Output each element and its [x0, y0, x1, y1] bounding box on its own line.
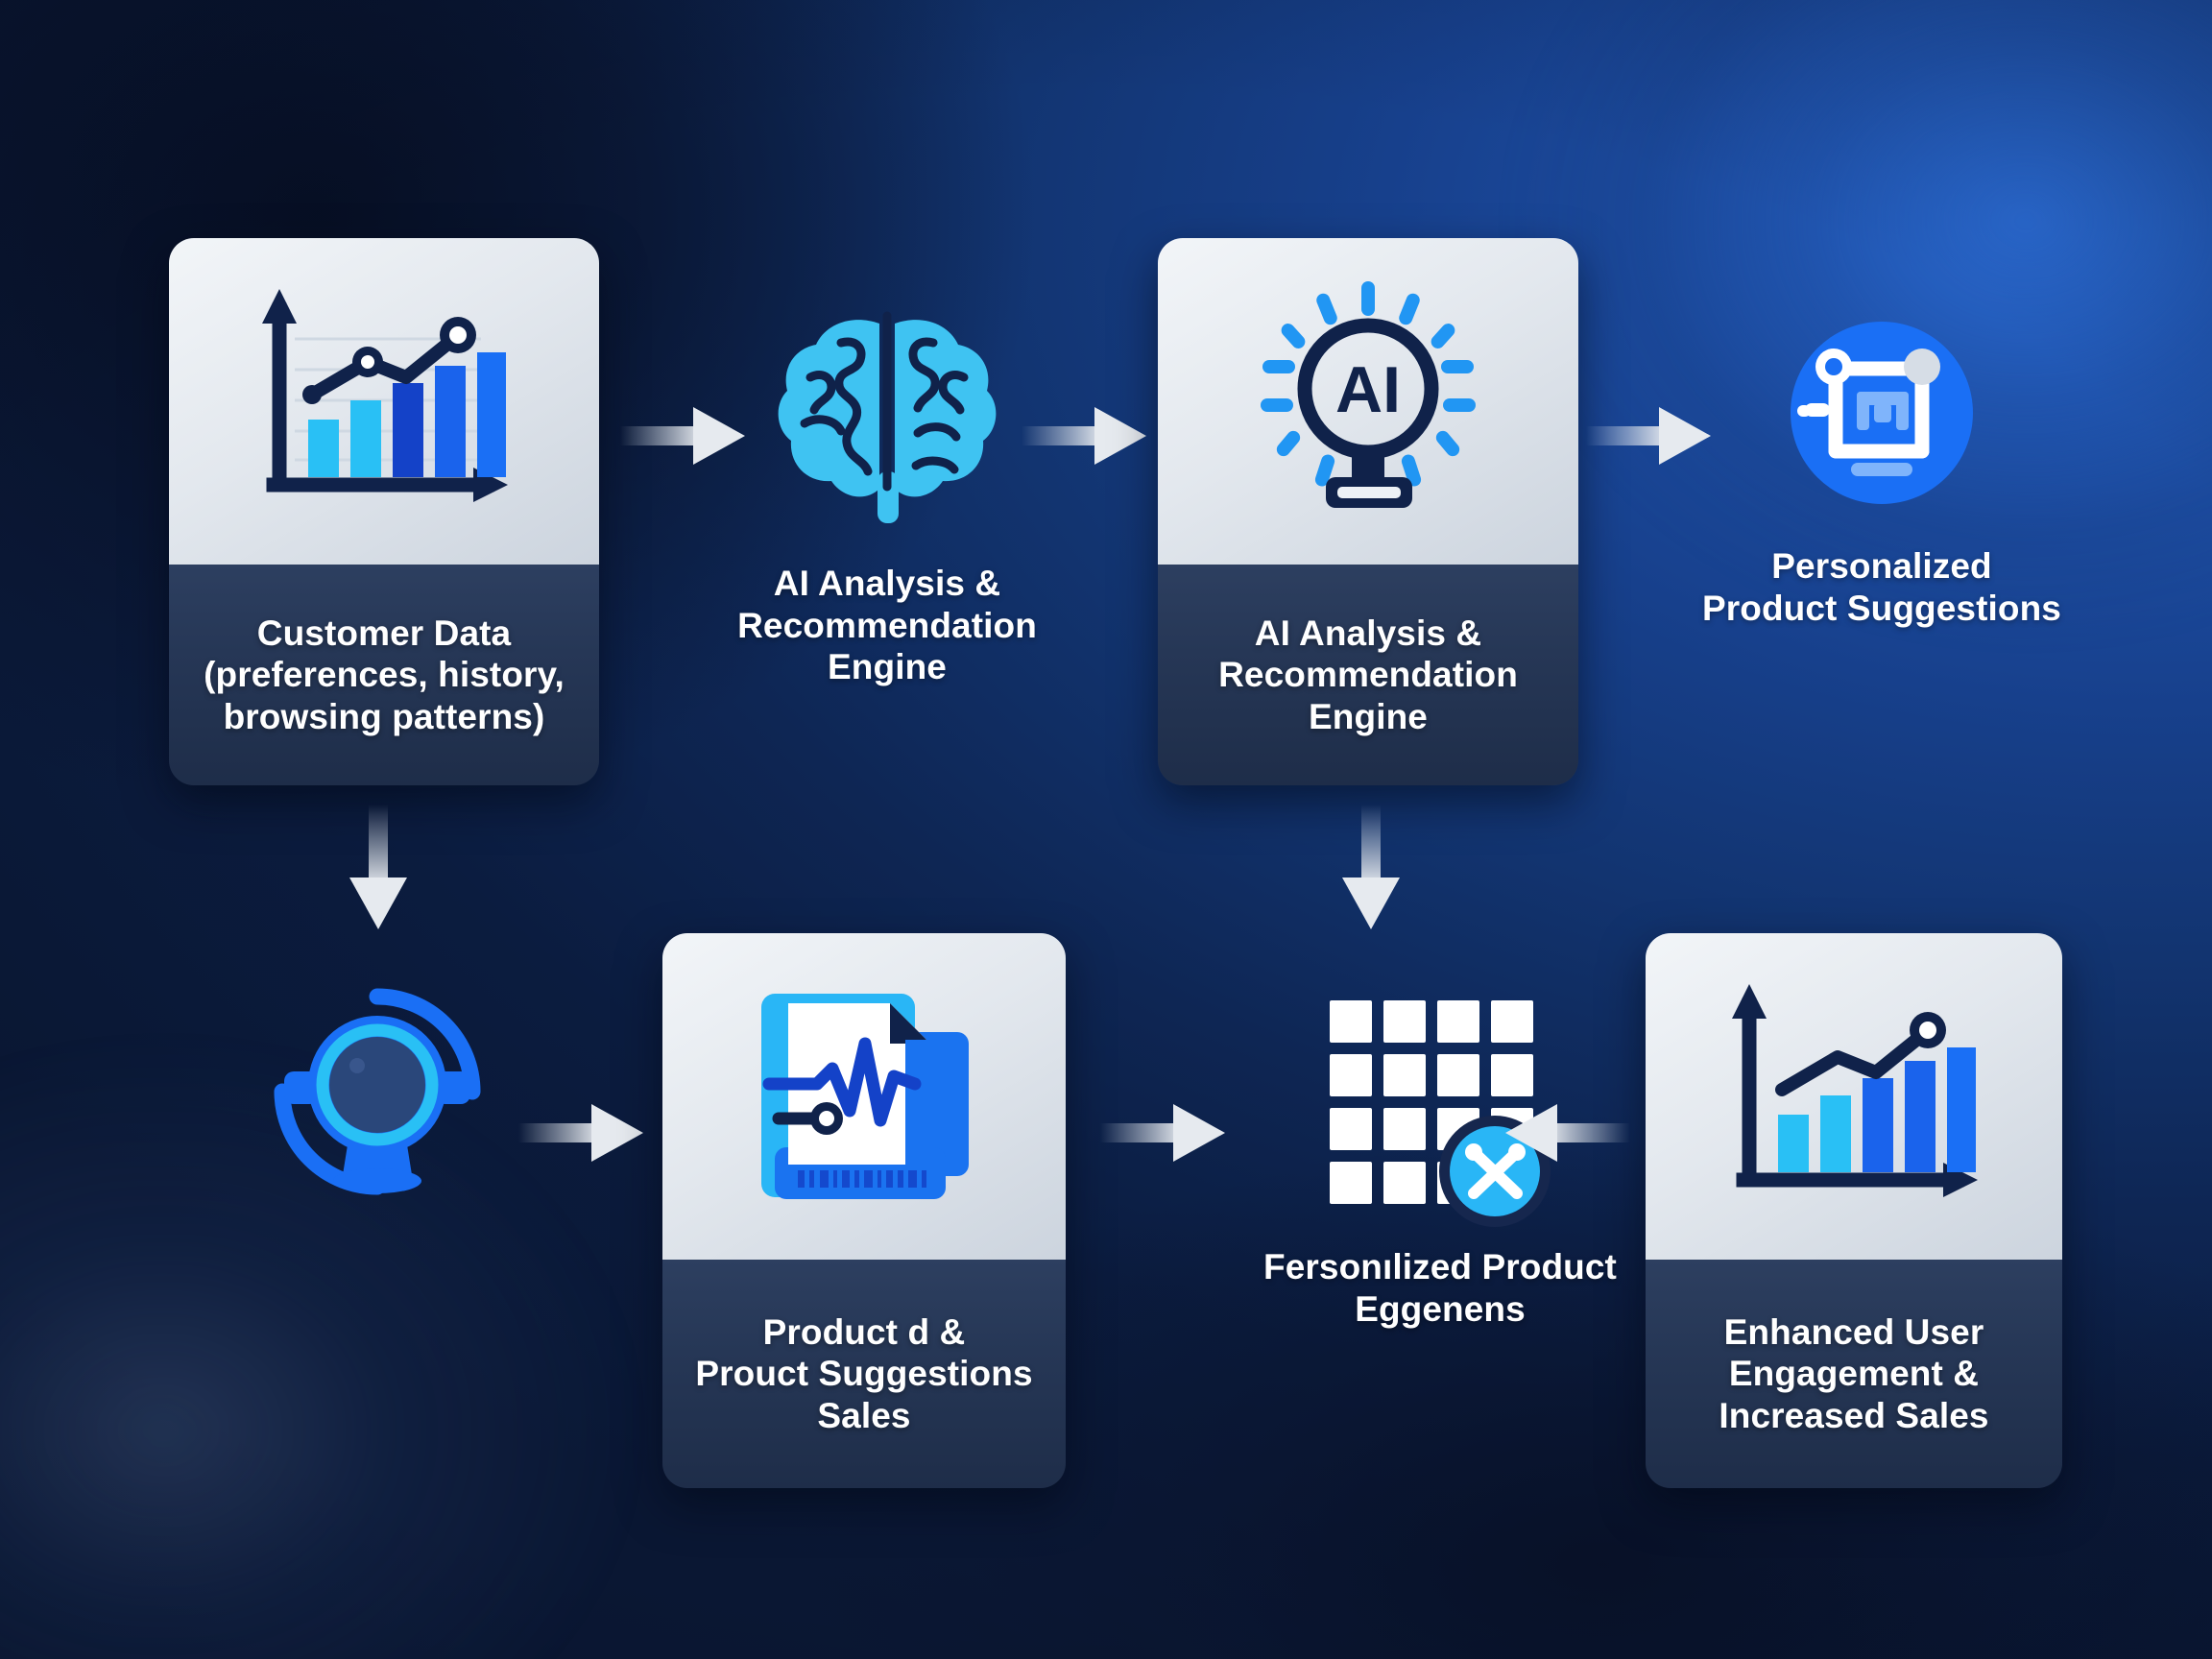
node-label: Product d & Prouct Suggestions Sales — [695, 1311, 1032, 1437]
personalized-experiences-label-area: Fersonılized Product Eggenens — [1238, 1246, 1642, 1390]
document-pulse-icon — [744, 976, 984, 1216]
product-suggestions-label-panel: Product d & Prouct Suggestions Sales — [662, 1260, 1066, 1488]
node-label: AI Analysis & Recommendation Engine — [737, 563, 1037, 688]
abstract-orb-rings-icon — [257, 972, 497, 1212]
enhanced-engagement-icon-panel — [1646, 933, 2062, 1260]
node-enhanced-engagement[interactable]: Enhanced User Engagement & Increased Sal… — [1646, 933, 2062, 1488]
ai-analysis-engine-label-panel: AI Analysis & Recommendation Engine — [1158, 565, 1578, 785]
bar-chart-growth-icon — [1715, 976, 1993, 1216]
product-suggestions-icon-panel — [662, 933, 1066, 1260]
node-personalized-product-experiences[interactable]: Fersonılized Product Eggenens — [1238, 979, 1642, 1402]
shopping-screen-circle-icon — [1776, 307, 1987, 518]
node-label: Enhanced User Engagement & Increased Sal… — [1719, 1311, 1988, 1437]
node-personalized-suggestions[interactable]: Personalized Product Suggestions — [1671, 288, 2093, 710]
node-label: Fersonılized Product Eggenens — [1263, 1246, 1617, 1330]
customer-data-icon-panel — [169, 238, 599, 565]
node-recommendation-core[interactable] — [257, 972, 497, 1212]
svg-text:AI: AI — [1335, 353, 1401, 426]
brain-icon — [772, 289, 1002, 529]
arrow-customer-data-to-core — [334, 805, 422, 941]
node-customer-data[interactable]: Customer Data (preferences, history, bro… — [169, 238, 599, 785]
arrow-engine-to-grid — [1327, 805, 1415, 941]
arrow-engagement-to-grid — [1494, 1089, 1630, 1177]
node-label: Personalized Product Suggestions — [1702, 545, 2061, 629]
diagram-canvas: Customer Data (preferences, history, bro… — [0, 0, 2212, 1659]
bar-chart-growth-icon — [245, 281, 523, 521]
personalized-suggestions-label-area: Personalized Product Suggestions — [1671, 545, 2093, 680]
arrow-core-to-document — [518, 1089, 655, 1177]
node-label: AI Analysis & Recommendation Engine — [1218, 613, 1518, 738]
enhanced-engagement-label-panel: Enhanced User Engagement & Increased Sal… — [1646, 1260, 2062, 1488]
ai-analysis-brain-label-area: AI Analysis & Recommendation Engine — [685, 563, 1089, 745]
node-ai-analysis-engine[interactable]: AI AI Analysis & Recommendation Engine — [1158, 238, 1578, 785]
personalized-suggestions-icon-area — [1671, 288, 2093, 538]
node-ai-analysis-brain[interactable]: AI Analysis & Recommendation Engine — [685, 265, 1089, 745]
recommendation-core-icon-area — [257, 972, 497, 1212]
node-product-suggestions-sales[interactable]: Product d & Prouct Suggestions Sales — [662, 933, 1066, 1488]
ai-analysis-engine-icon-panel: AI — [1158, 238, 1578, 565]
arrow-brain-to-engine — [1022, 392, 1158, 480]
customer-data-label-panel: Customer Data (preferences, history, bro… — [169, 565, 599, 785]
arrow-document-to-grid — [1100, 1089, 1237, 1177]
node-label: Customer Data (preferences, history, bro… — [204, 613, 565, 738]
ai-lightbulb-icon: AI — [1243, 272, 1493, 531]
